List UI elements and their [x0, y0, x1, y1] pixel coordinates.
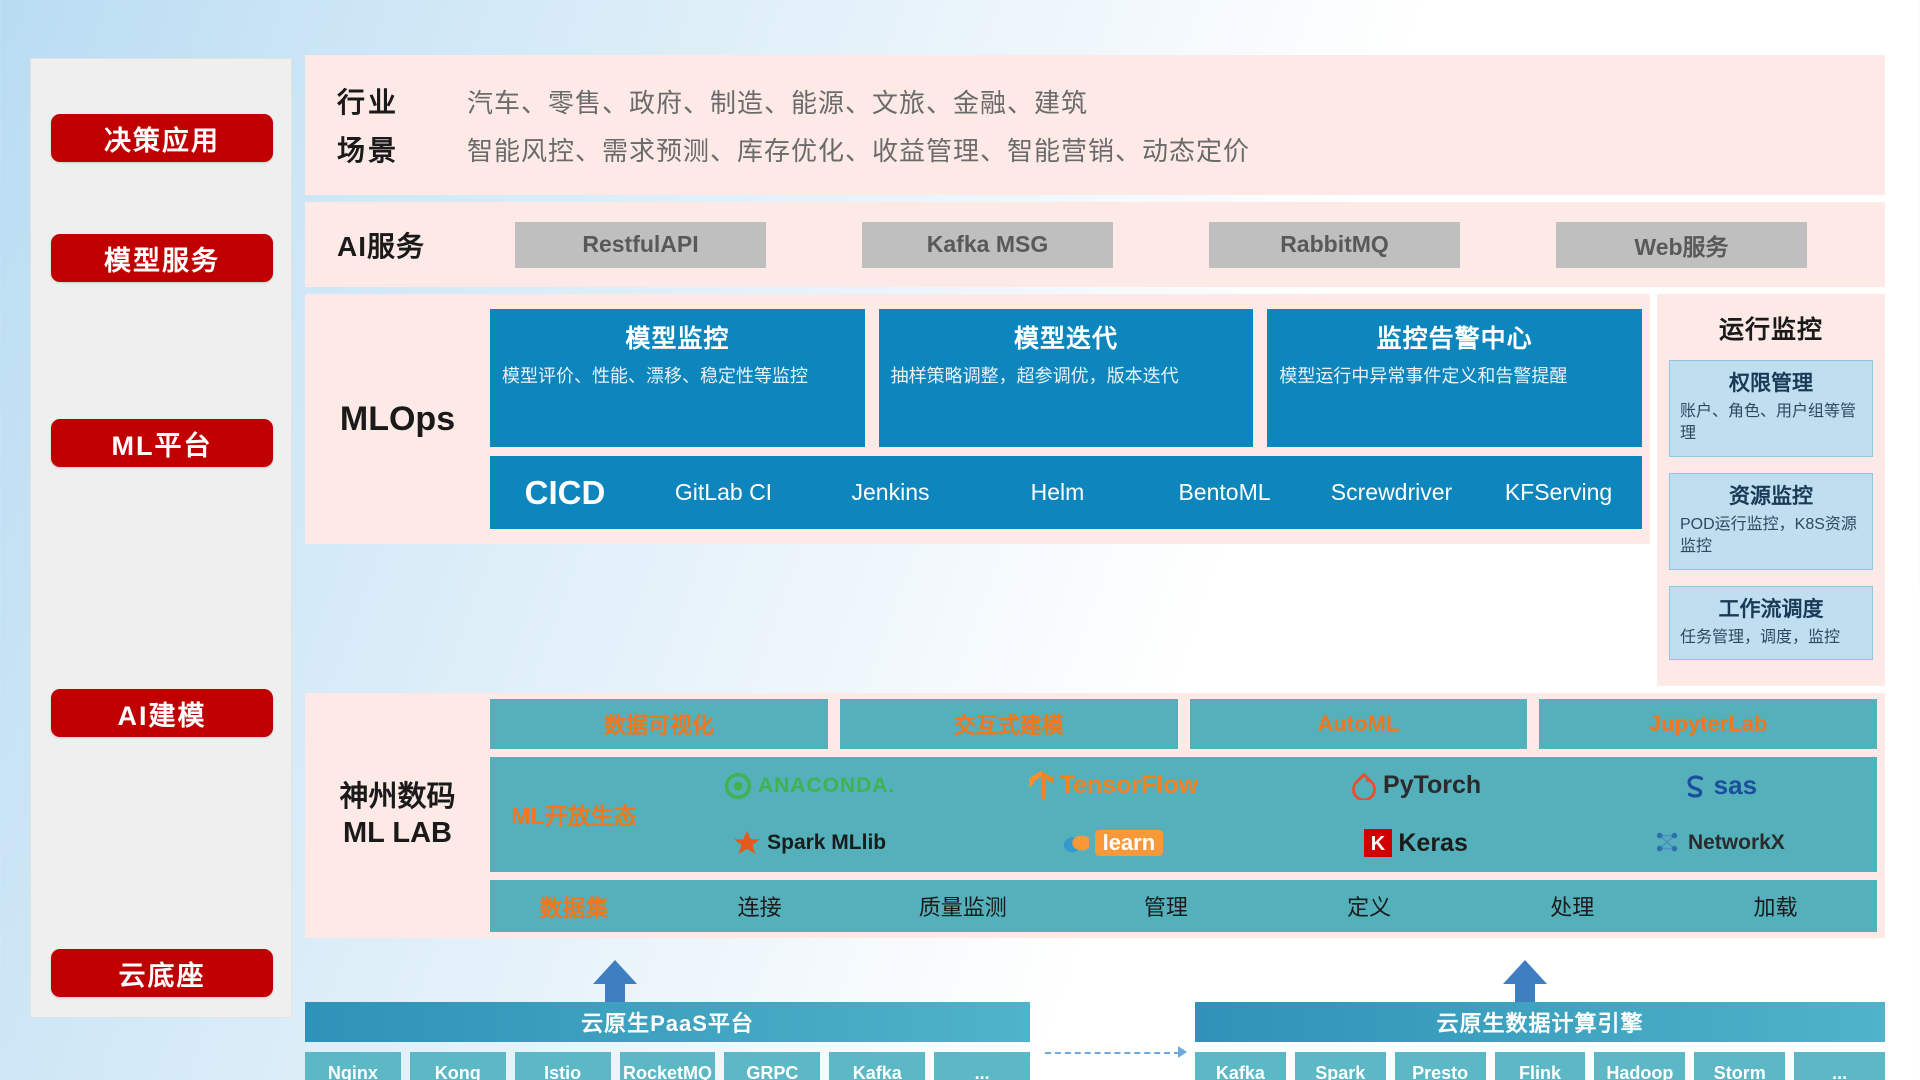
cloud-base-band: 云原生PaaS平台 Nginx Kong Istio RocketMQ GRPC… — [305, 960, 1885, 1080]
side-card-resource-monitoring[interactable]: 资源监控 POD运行监控，K8S资源监控 — [1669, 473, 1873, 570]
layer-rail: 决策应用 模型服务 ML平台 AI建模 云底座 — [30, 58, 292, 1018]
side-card-title: 资源监控 — [1680, 480, 1862, 510]
cloud-chip-spark[interactable]: Spark — [1295, 1052, 1386, 1080]
cicd-item-jenkins[interactable]: Jenkins — [807, 478, 974, 507]
logo-text: TensorFlow — [1060, 771, 1198, 800]
dataset-item-definition[interactable]: 定义 — [1268, 890, 1471, 922]
logo-text: learn — [1095, 830, 1164, 856]
tab-jupyterlab[interactable]: JupyterLab — [1539, 699, 1877, 749]
cloud-chip-grpc[interactable]: GRPC — [724, 1052, 820, 1080]
logo-text: Spark MLlib — [767, 831, 886, 855]
ml-lab-content: 数据可视化 交互式建模 AutoML JupyterLab ML开放生态 A — [490, 699, 1885, 932]
cloud-chip-more-right[interactable]: ... — [1794, 1052, 1885, 1080]
dataset-item-quality-monitoring[interactable]: 质量监测 — [861, 890, 1064, 922]
runtime-monitoring-title: 运行监控 — [1669, 310, 1873, 346]
scikit-learn-logo[interactable]: learn — [961, 830, 1264, 856]
cloud-chip-presto[interactable]: Presto — [1395, 1052, 1486, 1080]
logo-text: PyTorch — [1383, 771, 1481, 800]
ecosystem-logos: ANACONDA. TensorFlow — [658, 757, 1877, 872]
spark-mllib-logo[interactable]: Spark MLlib — [658, 830, 961, 856]
rail-item-cloud-base[interactable]: 云底座 — [51, 949, 273, 997]
ai-service-chip-restfulapi[interactable]: RestfulAPI — [515, 222, 766, 268]
pytorch-logo[interactable]: PyTorch — [1265, 771, 1568, 800]
cloud-chip-istio[interactable]: Istio — [515, 1052, 611, 1080]
scenario-values: 智能风控、需求预测、库存优化、收益管理、智能营销、动态定价 — [467, 131, 1250, 168]
anaconda-logo[interactable]: ANACONDA. — [658, 772, 961, 800]
cloud-chip-more-left[interactable]: ... — [934, 1052, 1030, 1080]
scikit-learn-icon — [1063, 830, 1089, 856]
card-title: 模型监控 — [502, 319, 853, 355]
rail-item-decision[interactable]: 决策应用 — [51, 114, 273, 162]
side-card-workflow-scheduling[interactable]: 工作流调度 任务管理，调度，监控 — [1669, 586, 1873, 660]
mlops-card-model-monitoring[interactable]: 模型监控 模型评价、性能、漂移、稳定性等监控 — [490, 309, 865, 447]
dataset-item-processing[interactable]: 处理 — [1471, 890, 1674, 922]
industry-label: 行业 — [337, 81, 467, 121]
tab-interactive-modeling[interactable]: 交互式建模 — [840, 699, 1178, 749]
keras-logo[interactable]: K Keras — [1265, 829, 1568, 858]
cicd-bar: CICD GitLab CI Jenkins Helm BentoML Scre… — [490, 456, 1642, 529]
cloud-chip-flink[interactable]: Flink — [1495, 1052, 1586, 1080]
cicd-item-helm[interactable]: Helm — [974, 478, 1141, 507]
layer-stack: 行业 汽车、零售、政府、制造、能源、文旅、金融、建筑 场景 智能风控、需求预测、… — [305, 55, 1885, 1080]
logo-text: sas — [1714, 770, 1757, 801]
logo-text: ANACONDA. — [758, 774, 895, 798]
ai-service-chip-web[interactable]: Web服务 — [1556, 222, 1807, 268]
ml-platform-band: MLOps 模型监控 模型评价、性能、漂移、稳定性等监控 模型迭代 抽样策略调整… — [305, 294, 1885, 686]
dataset-label: 数据集 — [490, 889, 658, 923]
logo-text: Keras — [1398, 829, 1468, 858]
mlops-label: MLOps — [305, 400, 490, 439]
ai-service-chip-rabbitmq[interactable]: RabbitMQ — [1209, 222, 1460, 268]
mlops-cards: 模型监控 模型评价、性能、漂移、稳定性等监控 模型迭代 抽样策略调整，超参调优，… — [490, 309, 1642, 447]
mlops-card-alert-center[interactable]: 监控告警中心 模型运行中异常事件定义和告警提醒 — [1267, 309, 1642, 447]
tensorflow-icon — [1028, 771, 1054, 801]
side-card-desc: POD运行监控，K8S资源监控 — [1680, 514, 1862, 559]
logo-text: NetworkX — [1688, 831, 1785, 855]
scenario-row: 场景 智能风控、需求预测、库存优化、收益管理、智能营销、动态定价 — [305, 125, 1885, 173]
cloud-paas-header: 云原生PaaS平台 — [305, 1002, 1030, 1042]
ml-lab-tabs: 数据可视化 交互式建模 AutoML JupyterLab — [490, 699, 1877, 749]
rail-item-ml-platform[interactable]: ML平台 — [51, 419, 273, 467]
rail-item-model-service[interactable]: 模型服务 — [51, 234, 273, 282]
ml-open-ecosystem-label: ML开放生态 — [490, 797, 658, 831]
cloud-chip-kafka-right[interactable]: Kafka — [1195, 1052, 1286, 1080]
svg-text:K: K — [1371, 833, 1386, 855]
card-desc: 模型评价、性能、漂移、稳定性等监控 — [502, 363, 853, 389]
pytorch-icon — [1351, 772, 1377, 800]
cicd-item-kfserving[interactable]: KFServing — [1475, 478, 1642, 507]
sas-logo[interactable]: sas — [1568, 770, 1871, 801]
decision-applications-band: 行业 汽车、零售、政府、制造、能源、文旅、金融、建筑 场景 智能风控、需求预测、… — [305, 55, 1885, 195]
ml-lab-label-line2: ML LAB — [305, 815, 490, 851]
networkx-icon — [1654, 830, 1682, 856]
dataset-item-management[interactable]: 管理 — [1064, 890, 1267, 922]
ai-service-items: RestfulAPI Kafka MSG RabbitMQ Web服务 — [467, 222, 1885, 268]
cicd-item-gitlab-ci[interactable]: GitLab CI — [640, 478, 807, 507]
card-title: 模型迭代 — [891, 319, 1242, 355]
runtime-monitoring-panel: 运行监控 权限管理 账户、角色、用户组等管理 资源监控 POD运行监控，K8S资… — [1657, 294, 1885, 686]
spark-icon — [733, 830, 761, 856]
mlops-content: 模型监控 模型评价、性能、漂移、稳定性等监控 模型迭代 抽样策略调整，超参调优，… — [490, 309, 1650, 529]
dataset-row: 数据集 连接 质量监测 管理 定义 处理 加载 — [490, 880, 1877, 932]
side-card-desc: 任务管理，调度，监控 — [1680, 627, 1862, 649]
industry-row: 行业 汽车、零售、政府、制造、能源、文旅、金融、建筑 — [305, 77, 1885, 125]
dataset-item-connect[interactable]: 连接 — [658, 890, 861, 922]
cloud-chip-nginx[interactable]: Nginx — [305, 1052, 401, 1080]
side-card-desc: 账户、角色、用户组等管理 — [1680, 401, 1862, 446]
cloud-chip-hadoop[interactable]: Hadoop — [1594, 1052, 1685, 1080]
cloud-chip-kafka[interactable]: Kafka — [829, 1052, 925, 1080]
dataset-item-loading[interactable]: 加载 — [1674, 890, 1877, 922]
cloud-chip-rocketmq[interactable]: RocketMQ — [620, 1052, 716, 1080]
ml-open-ecosystem-row: ML开放生态 ANACONDA. — [490, 757, 1877, 872]
cloud-data-engine-header: 云原生数据计算引擎 — [1195, 1002, 1885, 1042]
tab-automl[interactable]: AutoML — [1190, 699, 1528, 749]
networkx-logo[interactable]: NetworkX — [1568, 830, 1871, 856]
card-desc: 抽样策略调整，超参调优，版本迭代 — [891, 363, 1242, 389]
arrow-up-paas-icon — [585, 960, 645, 1002]
ml-lab-label-line1: 神州数码 — [305, 779, 490, 815]
cloud-paas-chips: Nginx Kong Istio RocketMQ GRPC Kafka ... — [305, 1052, 1030, 1080]
ai-service-band: AI服务 RestfulAPI Kafka MSG RabbitMQ Web服务 — [305, 202, 1885, 287]
card-title: 监控告警中心 — [1279, 319, 1630, 355]
rail-item-ai-modeling[interactable]: AI建模 — [51, 689, 273, 737]
sas-icon — [1682, 773, 1708, 799]
side-card-title: 工作流调度 — [1680, 593, 1862, 623]
cloud-chip-storm[interactable]: Storm — [1694, 1052, 1785, 1080]
ai-service-label: AI服务 — [337, 225, 467, 265]
ai-modeling-band: 神州数码 ML LAB 数据可视化 交互式建模 AutoML JupyterLa… — [305, 693, 1885, 938]
mlops-card-model-iteration[interactable]: 模型迭代 抽样策略调整，超参调优，版本迭代 — [879, 309, 1254, 447]
cloud-chip-kong[interactable]: Kong — [410, 1052, 506, 1080]
cicd-label: CICD — [490, 474, 640, 512]
industry-values: 汽车、零售、政府、制造、能源、文旅、金融、建筑 — [467, 83, 1088, 120]
cicd-item-bentoml[interactable]: BentoML — [1141, 478, 1308, 507]
connector-dashed-top — [1045, 1052, 1180, 1054]
side-card-permission-management[interactable]: 权限管理 账户、角色、用户组等管理 — [1669, 360, 1873, 457]
connector-arrowhead-right — [1178, 1046, 1187, 1058]
tensorflow-logo[interactable]: TensorFlow — [961, 771, 1264, 801]
scenario-label: 场景 — [337, 129, 467, 169]
cicd-item-screwdriver[interactable]: Screwdriver — [1308, 478, 1475, 507]
cloud-data-engine-chips: Kafka Spark Presto Flink Hadoop Storm ..… — [1195, 1052, 1885, 1080]
mlops-section: MLOps 模型监控 模型评价、性能、漂移、稳定性等监控 模型迭代 抽样策略调整… — [305, 294, 1650, 544]
cloud-data-engine-column: 云原生数据计算引擎 Kafka Spark Presto Flink Hadoo… — [1195, 1002, 1885, 1080]
side-card-title: 权限管理 — [1680, 367, 1862, 397]
anaconda-icon — [724, 772, 752, 800]
arrow-up-data-engine-icon — [1495, 960, 1555, 1002]
ai-service-chip-kafka-msg[interactable]: Kafka MSG — [862, 222, 1113, 268]
keras-icon: K — [1364, 829, 1392, 857]
cloud-paas-column: 云原生PaaS平台 Nginx Kong Istio RocketMQ GRPC… — [305, 1002, 1030, 1080]
tab-data-visualization[interactable]: 数据可视化 — [490, 699, 828, 749]
ml-lab-label: 神州数码 ML LAB — [305, 779, 490, 852]
card-desc: 模型运行中异常事件定义和告警提醒 — [1279, 363, 1630, 389]
architecture-diagram: 决策应用 模型服务 ML平台 AI建模 云底座 行业 汽车、零售、政府、制造、能… — [0, 0, 1920, 1080]
